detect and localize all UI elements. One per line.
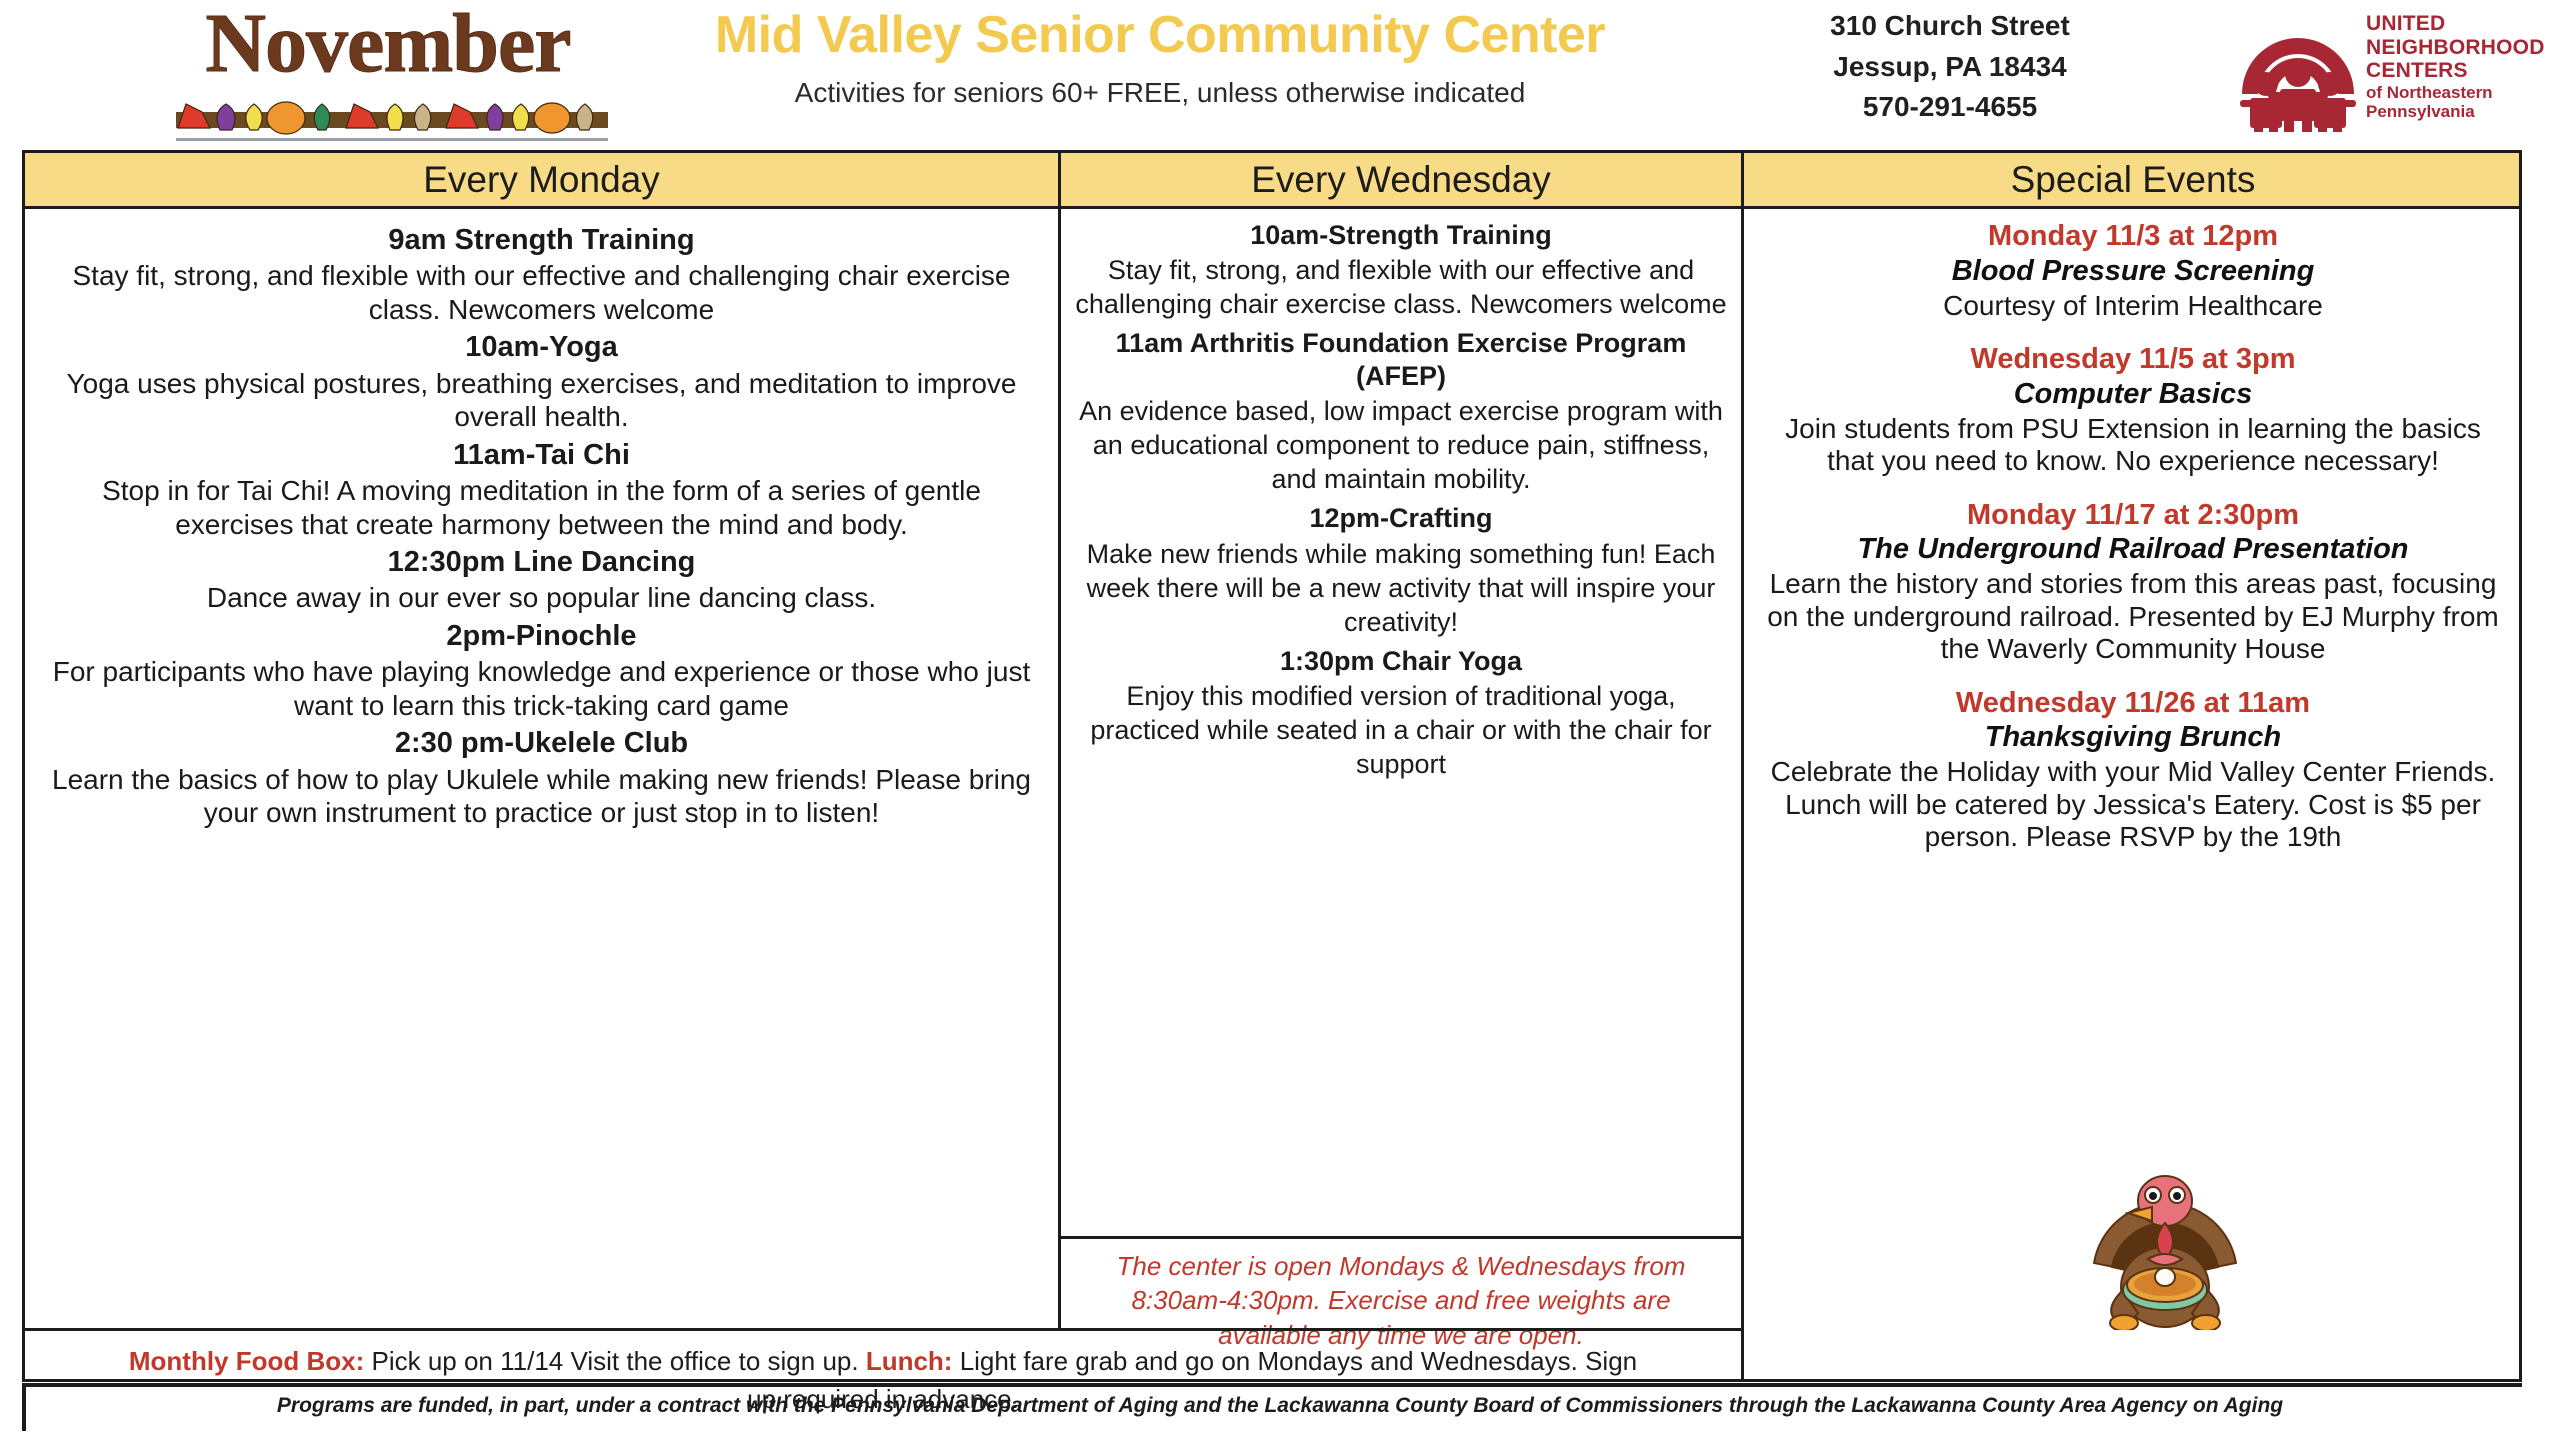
unc-line-centers: CENTERS: [2366, 59, 2551, 83]
monday-column: 9am Strength Training Stay fit, strong, …: [25, 209, 1058, 832]
activity-desc: Dance away in our ever so popular line d…: [45, 581, 1038, 615]
activity-title: 10am-Strength Training: [1075, 219, 1727, 251]
page-title: Mid Valley Senior Community Center: [660, 8, 1660, 63]
flyer-page: November: [0, 0, 2560, 1440]
address-city: Jessup, PA 18434: [1690, 47, 2210, 88]
event-description: Celebrate the Holiday with your Mid Vall…: [1764, 756, 2502, 853]
event-name: Blood Pressure Screening: [1764, 254, 2502, 289]
event-name: Computer Basics: [1764, 377, 2502, 412]
activity-title: 11am Arthritis Foundation Exercise Progr…: [1075, 327, 1727, 392]
column-header-wednesday: Every Wednesday: [1061, 153, 1741, 209]
food-box-label: Monthly Food Box:: [129, 1346, 364, 1376]
address-block: 310 Church Street Jessup, PA 18434 570-2…: [1690, 6, 2210, 128]
turkey-illustration: [2060, 1155, 2270, 1330]
event-date: Wednesday 11/5 at 3pm: [1764, 342, 2502, 377]
funding-disclaimer: Programs are funded, in part, under a co…: [0, 1394, 2560, 1418]
column-header-special-events: Special Events: [1744, 153, 2522, 209]
unc-people-arches-icon: [2238, 8, 2358, 132]
november-logo: November: [128, 2, 648, 144]
event-description: Join students from PSU Extension in lear…: [1764, 413, 2502, 478]
activity-desc: Stay fit, strong, and flexible with our …: [45, 259, 1038, 326]
unc-line-united: UNITED: [2366, 12, 2551, 36]
phone-number: 570-291-4655: [1690, 87, 2210, 128]
activity-title: 12pm-Crafting: [1075, 502, 1727, 534]
activity-title: 12:30pm Line Dancing: [45, 545, 1038, 579]
special-event: Wednesday 11/26 at 11am Thanksgiving Bru…: [1764, 686, 2502, 854]
unc-line-of-northeastern: of Northeastern: [2366, 83, 2551, 102]
column-header-row: Every Monday Every Wednesday Special Eve…: [25, 153, 2519, 209]
event-description: Learn the history and stories from this …: [1764, 568, 2502, 665]
autumn-leaves-graphic: [168, 98, 618, 144]
event-name: The Underground Railroad Presentation: [1764, 532, 2502, 567]
bottom-rule: [22, 1383, 2522, 1387]
wednesday-column: 10am-Strength Training Stay fit, strong,…: [1061, 209, 1741, 783]
activity-desc: Make new friends while making something …: [1075, 537, 1727, 639]
activity-desc: Stop in for Tai Chi! A moving meditation…: [45, 474, 1038, 541]
event-name: Thanksgiving Brunch: [1764, 720, 2502, 755]
activity-title: 11am-Tai Chi: [45, 438, 1038, 472]
page-header: November: [0, 0, 2560, 148]
column-header-monday: Every Monday: [25, 153, 1058, 209]
event-date: Wednesday 11/26 at 11am: [1764, 686, 2502, 721]
unc-logo: UNITED NEIGHBORHOOD CENTERS of Northeast…: [2238, 6, 2548, 136]
special-event: Wednesday 11/5 at 3pm Computer Basics Jo…: [1764, 342, 2502, 478]
lunch-label: Lunch:: [866, 1346, 953, 1376]
unc-line-pennsylvania: Pennsylvania: [2366, 102, 2551, 121]
activity-title: 2pm-Pinochle: [45, 619, 1038, 653]
address-street: 310 Church Street: [1690, 6, 2210, 47]
month-name-text: November: [128, 2, 648, 86]
event-date: Monday 11/17 at 2:30pm: [1764, 498, 2502, 533]
activity-desc: Yoga uses physical postures, breathing e…: [45, 367, 1038, 434]
unc-logo-text: UNITED NEIGHBORHOOD CENTERS of Northeast…: [2366, 12, 2551, 121]
activity-title: 1:30pm Chair Yoga: [1075, 645, 1727, 677]
activity-title: 10am-Yoga: [45, 330, 1038, 364]
special-events-column: Monday 11/3 at 12pm Blood Pressure Scree…: [1744, 209, 2522, 874]
activity-desc: Enjoy this modified version of tradition…: [1075, 679, 1727, 781]
activity-desc: Learn the basics of how to play Ukulele …: [45, 763, 1038, 830]
food-box-text: Pick up on 11/14 Visit the office to sig…: [364, 1346, 866, 1376]
title-block: Mid Valley Senior Community Center Activ…: [660, 8, 1660, 109]
activity-desc: An evidence based, low impact exercise p…: [1075, 394, 1727, 496]
event-description: Courtesy of Interim Healthcare: [1764, 290, 2502, 322]
activity-desc: Stay fit, strong, and flexible with our …: [1075, 253, 1727, 321]
special-event: Monday 11/3 at 12pm Blood Pressure Scree…: [1764, 219, 2502, 322]
activity-title: 2:30 pm-Ukelele Club: [45, 726, 1038, 760]
activity-desc: For participants who have playing knowle…: [45, 655, 1038, 722]
special-event: Monday 11/17 at 2:30pm The Underground R…: [1764, 498, 2502, 666]
page-subtitle: Activities for seniors 60+ FREE, unless …: [660, 77, 1660, 109]
unc-line-neighborhood: NEIGHBORHOOD: [2366, 36, 2551, 60]
activity-title: 9am Strength Training: [45, 223, 1038, 257]
event-date: Monday 11/3 at 12pm: [1764, 219, 2502, 254]
